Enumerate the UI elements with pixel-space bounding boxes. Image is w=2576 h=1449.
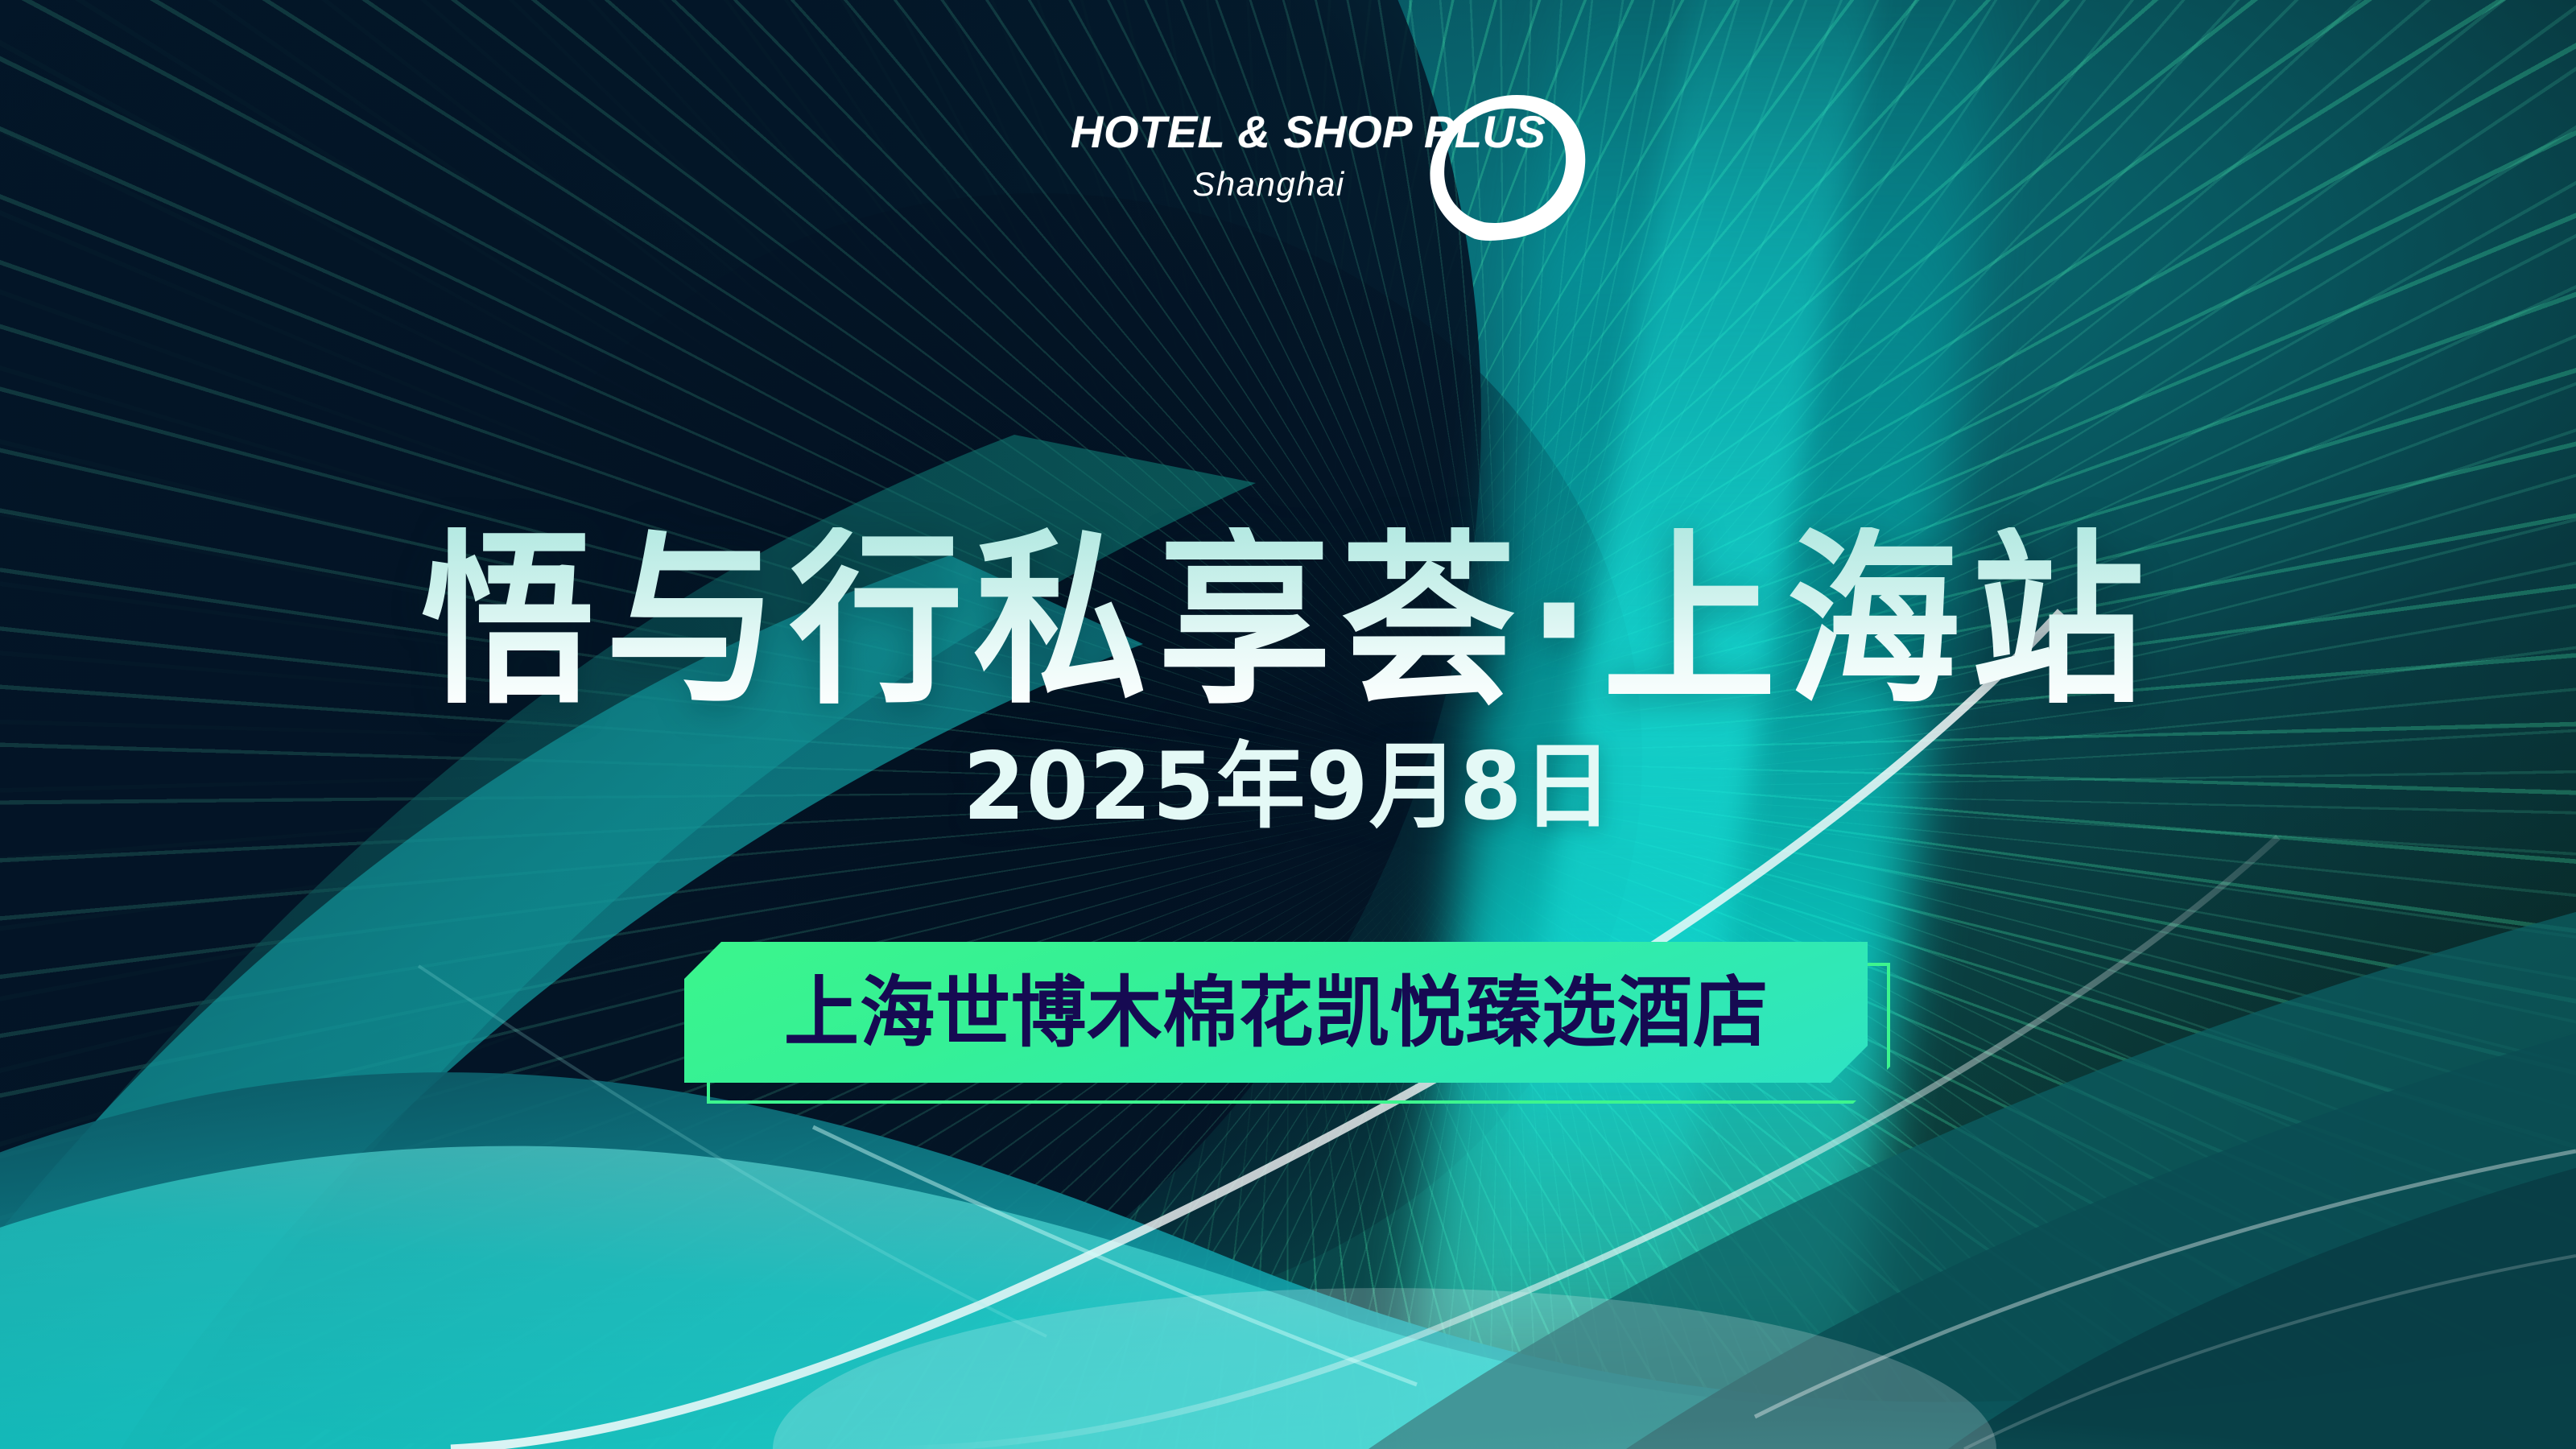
brand-name: HOTEL & SHOP PLUS (1071, 109, 1467, 155)
brand-city: Shanghai (1071, 167, 1467, 201)
poster-canvas: HOTEL & SHOP PLUS Shanghai 悟与行私享荟·上海站 20… (0, 0, 2576, 1449)
page-title: 悟与行私享荟·上海站 (90, 527, 2486, 714)
brand-logo: HOTEL & SHOP PLUS Shanghai (1071, 97, 1554, 250)
open-ring-icon (1423, 85, 1588, 250)
venue-badge: 上海世博木棉花凯悦臻选酒店 (684, 942, 1908, 1127)
venue-badge-fill: 上海世博木棉花凯悦臻选酒店 (684, 942, 1868, 1083)
event-date: 2025年9月8日 (52, 741, 2524, 834)
venue-name: 上海世博木棉花凯悦臻选酒店 (783, 974, 1768, 1051)
